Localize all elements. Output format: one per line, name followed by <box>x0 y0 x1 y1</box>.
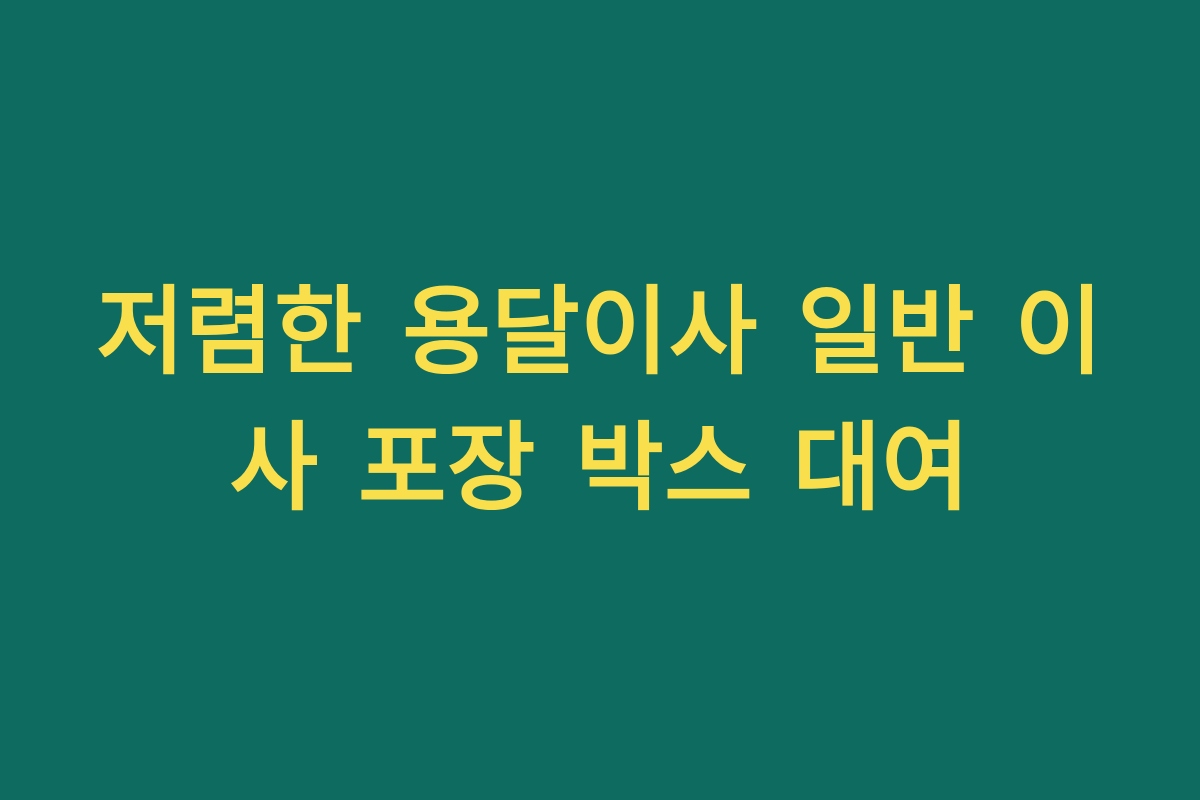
text-banner: 저렴한 용달이사 일반 이사 포장 박스 대여 <box>0 0 1200 800</box>
banner-headline: 저렴한 용달이사 일반 이사 포장 박스 대여 <box>85 264 1115 537</box>
headline-block: 저렴한 용달이사 일반 이사 포장 박스 대여 <box>85 264 1115 537</box>
